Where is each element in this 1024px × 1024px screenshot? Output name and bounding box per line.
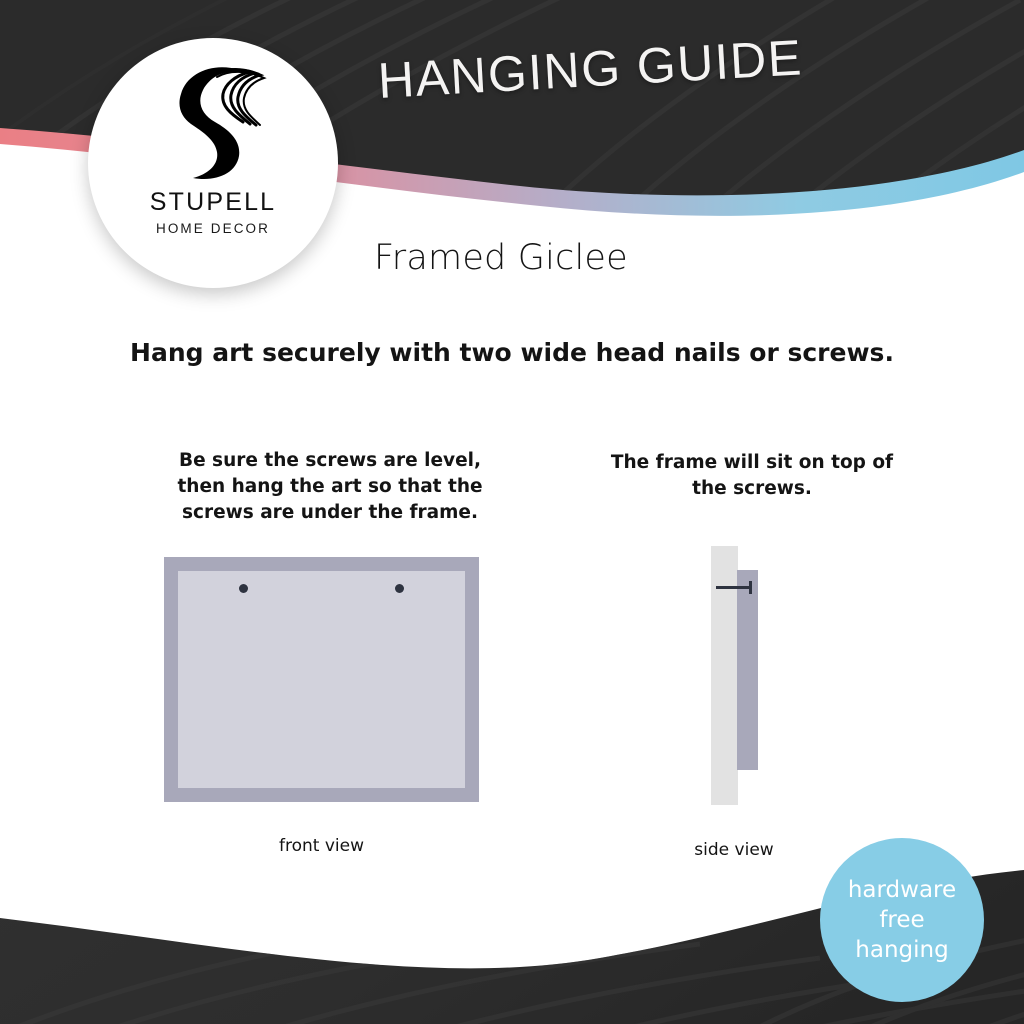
front-view-caption: front view bbox=[164, 836, 479, 856]
badge-line-2: free bbox=[879, 905, 924, 935]
screw-dot-left bbox=[239, 584, 248, 593]
side-view-frame bbox=[737, 570, 758, 770]
brand-logo-badge: STUPELL HOME DECOR bbox=[88, 38, 338, 288]
hanging-guide-page: STUPELL HOME DECOR HANGING GUIDE Framed … bbox=[0, 0, 1024, 1024]
badge-line-1: hardware bbox=[848, 875, 956, 905]
screw-dot-right bbox=[395, 584, 404, 593]
side-view-caption: side view bbox=[660, 840, 808, 860]
hardware-free-hanging-badge: hardware free hanging bbox=[820, 838, 984, 1002]
brand-tagline: HOME DECOR bbox=[156, 221, 270, 236]
stupell-swirl-logo-icon bbox=[157, 64, 269, 182]
lead-instruction: Hang art securely with two wide head nai… bbox=[0, 338, 1024, 367]
brand-name: STUPELL bbox=[150, 188, 277, 217]
side-view-instruction: The frame will sit on top of the screws. bbox=[592, 450, 912, 502]
badge-line-3: hanging bbox=[855, 935, 948, 965]
page-title: HANGING GUIDE bbox=[376, 28, 804, 110]
side-view-nail-head bbox=[749, 581, 752, 594]
side-view-nail-shaft bbox=[716, 586, 752, 589]
front-view-frame-diagram bbox=[164, 557, 479, 802]
product-type-label: Framed Giclee bbox=[374, 238, 628, 278]
side-view-wall bbox=[711, 546, 738, 805]
front-view-instruction: Be sure the screws are level, then hang … bbox=[160, 448, 500, 526]
front-view-mat bbox=[178, 571, 465, 788]
